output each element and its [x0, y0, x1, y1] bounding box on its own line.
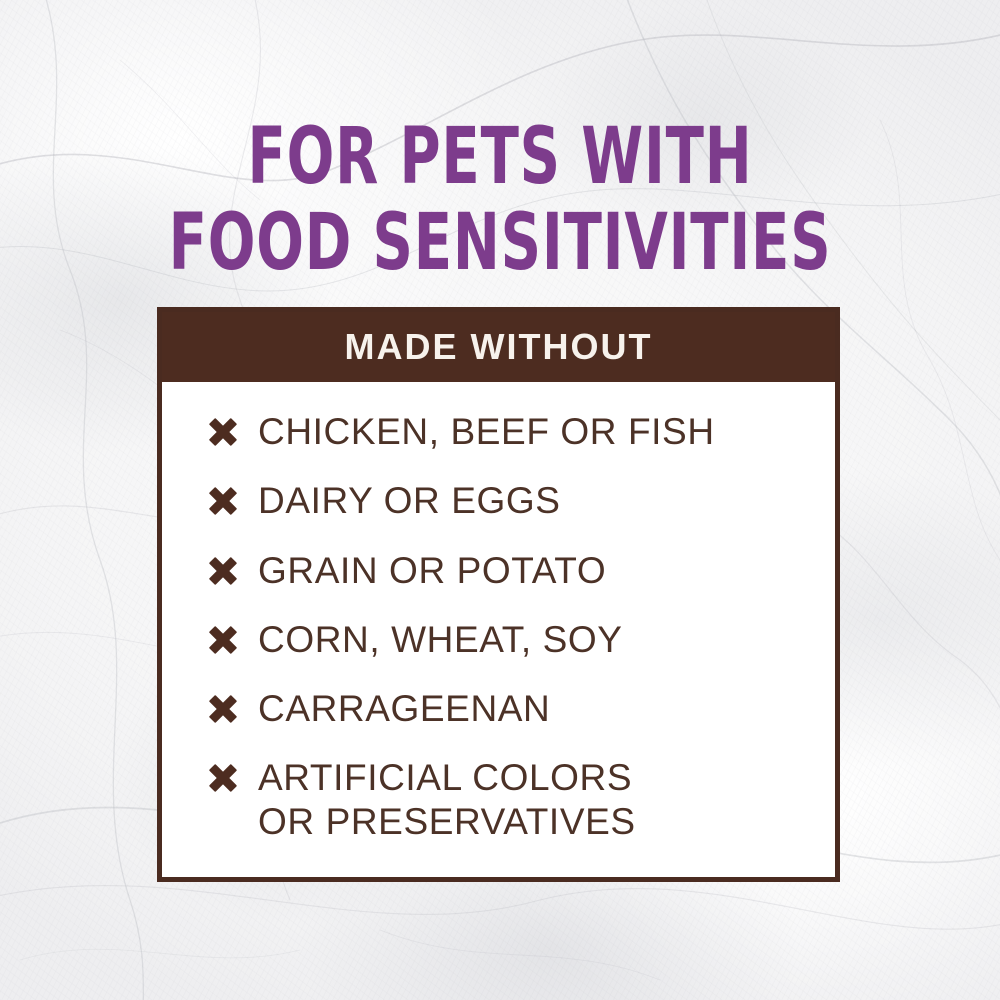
headline-line-1: FOR PETS WITH: [100, 118, 900, 196]
x-mark-icon: [206, 692, 240, 726]
headline-line-2: FOOD SENSITIVITIES: [100, 204, 900, 282]
list-item: GRAIN OR POTATO: [206, 549, 835, 592]
list-item-label: CORN, WHEAT, SOY: [258, 618, 623, 661]
card-body: CHICKEN, BEEF OR FISH DAIRY OR EGGS GRAI…: [162, 382, 835, 877]
x-mark-icon: [206, 761, 240, 795]
list-item: CARRAGEENAN: [206, 687, 835, 730]
list-item-label: ARTIFICIAL COLORS OR PRESERVATIVES: [258, 756, 636, 843]
card-header-title: MADE WITHOUT: [345, 326, 653, 368]
list-item: DAIRY OR EGGS: [206, 479, 835, 522]
card-header: MADE WITHOUT: [162, 312, 835, 382]
exclusion-list: CHICKEN, BEEF OR FISH DAIRY OR EGGS GRAI…: [162, 410, 835, 843]
list-item: ARTIFICIAL COLORS OR PRESERVATIVES: [206, 756, 835, 843]
x-mark-icon: [206, 623, 240, 657]
list-item: CHICKEN, BEEF OR FISH: [206, 410, 835, 453]
x-mark-icon: [206, 415, 240, 449]
x-mark-icon: [206, 554, 240, 588]
product-callout-graphic: FOR PETS WITH FOOD SENSITIVITIES MADE WI…: [0, 0, 1000, 1000]
list-item-label: CARRAGEENAN: [258, 687, 550, 730]
list-item-label: GRAIN OR POTATO: [258, 549, 606, 592]
made-without-card: MADE WITHOUT CHICKEN, BEEF OR FISH DAIRY…: [157, 307, 840, 882]
list-item: CORN, WHEAT, SOY: [206, 618, 835, 661]
page-title: FOR PETS WITH FOOD SENSITIVITIES: [0, 118, 1000, 282]
list-item-label: DAIRY OR EGGS: [258, 479, 561, 522]
x-mark-icon: [206, 484, 240, 518]
list-item-label: CHICKEN, BEEF OR FISH: [258, 410, 715, 453]
